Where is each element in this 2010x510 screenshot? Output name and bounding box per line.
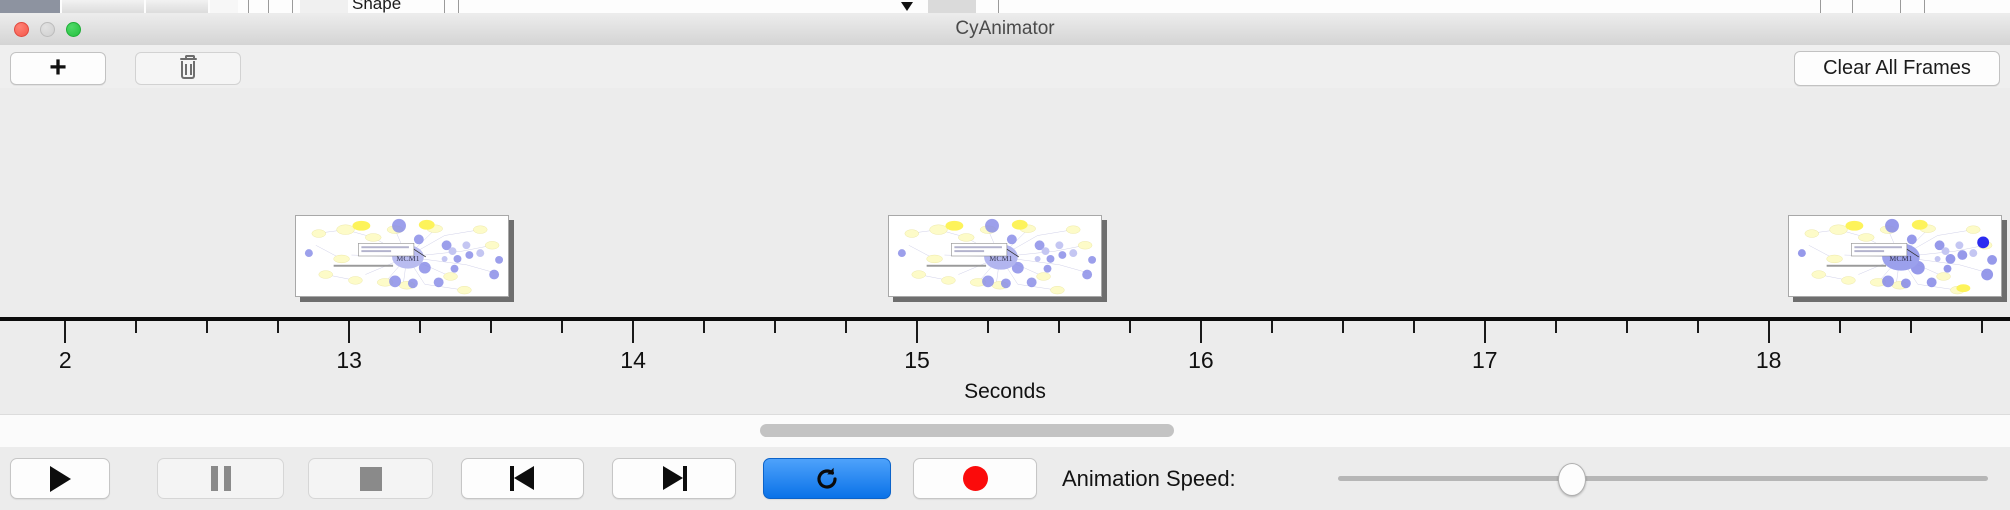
axis-tick-minor: [1555, 321, 1557, 333]
delete-frame-button[interactable]: [135, 52, 241, 85]
axis-tick-minor: [135, 321, 137, 333]
loop-button[interactable]: [763, 458, 891, 499]
title-bar[interactable]: CyAnimator: [0, 13, 2010, 46]
skip-back-icon: [510, 466, 536, 491]
playback-bar: Animation Speed:: [0, 447, 2010, 510]
frame-thumbnail[interactable]: MCM1: [888, 215, 1102, 297]
skip-forward-icon: [661, 466, 687, 491]
axis-tick-minor: [419, 321, 421, 333]
thumbnail-card: MCM1: [888, 215, 1102, 297]
stop-icon: [360, 467, 382, 491]
axis-tick-major: [1200, 321, 1202, 343]
axis-tick-major: [1484, 321, 1486, 343]
network-graph-icon: MCM1: [1789, 216, 2001, 296]
axis-tick-major: [64, 321, 66, 343]
axis-tick-minor: [1981, 321, 1983, 333]
axis-tick-label: 16: [1188, 347, 1214, 374]
axis-tick-label: 18: [1756, 347, 1782, 374]
axis-tick-minor: [1839, 321, 1841, 333]
axis-tick-label: 15: [904, 347, 930, 374]
background-window-strip: Shape: [0, 0, 2010, 14]
axis-tick-minor: [206, 321, 208, 333]
axis-tick-minor: [1413, 321, 1415, 333]
axis-tick-minor: [845, 321, 847, 333]
next-frame-button[interactable]: [612, 458, 736, 499]
axis-tick-label: 14: [620, 347, 646, 374]
axis-tick-minor: [1910, 321, 1912, 333]
pause-icon: [211, 466, 231, 491]
network-graph-icon: MCM1: [889, 216, 1101, 296]
axis-tick-major: [632, 321, 634, 343]
axis-tick-minor: [774, 321, 776, 333]
play-button[interactable]: [10, 458, 110, 499]
timeline-scrollbar[interactable]: [0, 414, 2010, 448]
axis-tick-minor: [703, 321, 705, 333]
axis-tick-minor: [1129, 321, 1131, 333]
animation-speed-label: Animation Speed:: [1062, 458, 1236, 499]
axis-tick-minor: [490, 321, 492, 333]
axis-tick-minor: [1271, 321, 1273, 333]
stop-button[interactable]: [308, 458, 433, 499]
axis-tick-minor: [1058, 321, 1060, 333]
axis-tick-label: 17: [1472, 347, 1498, 374]
axis-tick-minor: [1697, 321, 1699, 333]
slider-track[interactable]: [1338, 476, 1988, 481]
axis-tick-major: [348, 321, 350, 343]
timeline-track[interactable]: MCM1: [0, 88, 2010, 320]
axis-title: Seconds: [0, 380, 2010, 404]
axis-tick-minor: [1626, 321, 1628, 333]
axis-tick-label: 13: [336, 347, 362, 374]
axis-tick-major: [916, 321, 918, 343]
frame-thumbnail[interactable]: MCM1: [295, 215, 509, 297]
axis-tick-minor: [1342, 321, 1344, 333]
axis-tick-label: 2: [59, 347, 72, 374]
background-window-tab: [0, 0, 60, 13]
trash-icon: [180, 58, 197, 79]
network-graph-icon: MCM1: [296, 216, 508, 296]
axis-tick-minor: [277, 321, 279, 333]
thumbnail-card: MCM1: [295, 215, 509, 297]
animation-speed-slider[interactable]: [1338, 458, 1988, 499]
slider-knob[interactable]: [1558, 463, 1586, 496]
previous-frame-button[interactable]: [461, 458, 584, 499]
window-title: CyAnimator: [0, 13, 2010, 45]
loop-icon: [813, 465, 841, 493]
add-frame-button[interactable]: +: [10, 52, 106, 85]
clear-all-frames-button[interactable]: Clear All Frames: [1794, 51, 2000, 86]
scrollbar-thumb[interactable]: [760, 424, 1174, 437]
record-button[interactable]: [913, 458, 1037, 499]
thumbnail-card: MCM1: [1788, 215, 2002, 297]
cyanimator-window: Shape CyAnimator + Clear All Frames: [0, 0, 2010, 510]
toolbar: + Clear All Frames: [0, 45, 2010, 89]
background-window-label: Shape: [352, 0, 401, 14]
pause-button[interactable]: [157, 458, 284, 499]
axis-tick-major: [1768, 321, 1770, 343]
record-icon: [963, 466, 988, 491]
clear-all-frames-label: Clear All Frames: [1823, 57, 1971, 80]
axis-tick-minor: [561, 321, 563, 333]
axis-tick-minor: [987, 321, 989, 333]
frame-thumbnail[interactable]: MCM1: [1788, 215, 2002, 297]
play-icon: [50, 466, 71, 492]
